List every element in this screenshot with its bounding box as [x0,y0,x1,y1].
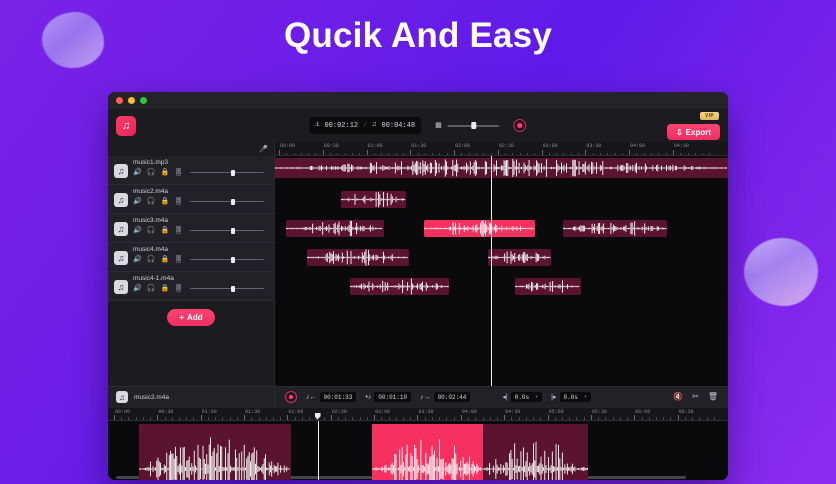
clip-ruler-tick-minor [432,417,433,420]
volume-slider-knob[interactable] [231,199,235,205]
clip-ruler-tick-minor [642,417,643,420]
ruler-tick-minor [359,153,360,156]
playhead[interactable] [491,156,492,386]
clip-ruler-tick-minor [280,417,281,420]
clip-ruler-tick-minor [714,417,715,420]
clip-ruler-tick-minor [396,417,397,420]
clip-editor-clip-selected[interactable] [372,424,484,481]
lock-icon[interactable]: 🔒 [160,198,169,205]
track-row[interactable]: ♫music2.m4a🔊🎧🔒🎚 [108,185,274,214]
clip-ruler-label: 03:00 [375,409,390,415]
clip-ruler-tick-minor [562,417,563,420]
clip-time-value[interactable]: 00:01:10 [374,392,411,402]
clip-ruler-tick-minor [692,417,693,420]
app-logo-icon: ♫ [116,116,136,136]
music-duration-icon: ♫ [372,122,376,129]
clip-ruler-tick-minor [352,417,353,420]
clip-ruler-tick-minor [468,417,469,420]
clip-ruler-tick-major [374,415,375,420]
clip-ruler-tick-minor [540,417,541,420]
track-list-panel: ♫music1.mp3🔊🎧🔒🎚♫music2.m4a🔊🎧🔒🎚♫music3.m4… [108,156,275,386]
minimize-window-button[interactable] [128,97,135,104]
track-row[interactable]: ♫music4.m4a🔊🎧🔒🎚 [108,243,274,272]
clip-ruler-tick-minor [490,417,491,420]
clip-inspector-toolbar: ♫ music3.m4a ♪←00:01:33•♪00:01:10♪→00:02… [108,386,728,408]
audio-clip[interactable] [488,249,551,266]
clip-start-icon: ♪← [306,394,317,401]
ruler-label: 01:00 [368,143,383,149]
clip-ruler-tick-minor [150,417,151,420]
clip-ruler-tick-minor [627,417,628,420]
clip-ruler-tick-minor [656,417,657,420]
clip-field-group: •♪00:01:10 [365,392,411,402]
clip-ruler-tick-minor [526,417,527,420]
plus-icon: + [179,313,184,322]
volume-slider-knob[interactable] [231,286,235,292]
effects-icon[interactable]: 🎚 [174,198,183,205]
fade-group: ◂|0.0s▾ [502,392,542,402]
ruler-tick-minor [549,153,550,156]
clip-ruler-tick-minor [685,417,686,420]
ruler-tick-minor [294,153,295,156]
clip-ruler-tick-minor [403,417,404,420]
ruler-tick-minor [512,153,513,156]
ruler-tick-minor [308,153,309,156]
clip-ruler-tick-minor [302,417,303,420]
ruler-tick-minor [651,153,652,156]
ruler-tick-minor [469,153,470,156]
audio-clip[interactable] [341,191,407,208]
clip-ruler-tick-major [157,415,158,420]
clip-ruler-tick-major [287,415,288,420]
clip-ruler-tick-minor [425,417,426,420]
clip-ruler-tick-minor [237,417,238,420]
effects-icon[interactable]: 🎚 [174,169,183,176]
chevron-down-icon: ▾ [584,394,587,400]
timeline-ruler-row: 🎤 00:3001:0001:3002:0002:3003:0003:3004:… [108,142,728,156]
ruler-tick-minor [680,153,681,156]
ruler-tick-minor [622,153,623,156]
clip-editor-ruler[interactable]: 00:0000:3001:0001:3002:0002:3003:0003:30… [108,408,728,421]
lock-icon[interactable]: 🔒 [160,256,169,263]
ruler-tick-minor [593,153,594,156]
ruler-tick-minor [330,153,331,156]
ruler-tick-major [629,150,630,155]
mute-icon[interactable]: 🔊 [133,198,142,205]
ruler-tick-minor [688,153,689,156]
total-time-value: 00:04:48 [382,122,416,130]
clip-time-value[interactable]: 00:01:33 [320,392,357,402]
ruler-tick-minor [381,153,382,156]
ruler-tick-minor [374,153,375,156]
selected-clip-name: music3.m4a [134,394,169,401]
split-icon[interactable]: ✂ [692,393,699,401]
clip-ruler-tick-minor [533,417,534,420]
clip-ruler-tick-major [461,415,462,420]
clip-ruler-label: 05:30 [592,409,607,415]
fade-value: 0.0s [515,394,529,401]
clip-thumb-icon: ♫ [116,391,128,403]
clip-ruler-tick-minor [295,417,296,420]
audio-clip[interactable] [563,220,667,237]
clip-ruler-tick-minor [215,417,216,420]
ruler-label: 02:00 [455,143,470,149]
effects-icon[interactable]: 🎚 [174,227,183,234]
clip-ruler-tick-minor [620,417,621,420]
clip-in-icon: •♪ [365,394,371,401]
timeline-ruler[interactable]: 00:3001:0001:3002:0002:3003:0003:3004:00… [275,142,728,156]
clip-ruler-tick-major [417,415,418,420]
solo-headphone-icon[interactable]: 🎧 [147,198,156,205]
mute-icon[interactable]: 🔊 [133,169,142,176]
volume-slider[interactable] [190,230,264,232]
clip-ruler-tick-minor [251,417,252,420]
ruler-tick-minor [337,153,338,156]
clip-ruler-tick-minor [143,417,144,420]
clip-ruler-tick-major [114,415,115,420]
clip-ruler-tick-minor [699,417,700,420]
clip-ruler-tick-minor [266,417,267,420]
clip-ruler-tick-minor [172,417,173,420]
ruler-tick-minor [563,153,564,156]
chevron-down-icon: ▾ [535,394,538,400]
ruler-label: 04:30 [674,143,689,149]
clip-ruler-tick-minor [222,417,223,420]
track-row[interactable]: ♫music1.mp3🔊🎧🔒🎚 [108,156,274,185]
ruler-tick-minor [505,153,506,156]
ruler-tick-major [585,150,586,155]
ruler-tick-minor [439,153,440,156]
solo-headphone-icon[interactable]: 🎧 [147,256,156,263]
ruler-tick-major [279,150,280,155]
ruler-tick-minor [447,153,448,156]
transport-group: ⚓ 00:02:12 / ♫ 00:04:48 ▦ [309,117,526,134]
ruler-tick-minor [396,153,397,156]
clip-ruler-tick-minor [598,417,599,420]
ruler-tick-minor [709,153,710,156]
ruler-tick-minor [286,153,287,156]
ruler-label: 01:30 [411,143,426,149]
ruler-tick-minor [702,153,703,156]
clip-ruler-tick-major [678,415,679,420]
track-name: music4.m4a [133,246,268,253]
clip-ruler-label: 04:00 [462,409,477,415]
clip-ruler-label: 03:30 [418,409,433,415]
current-time-value: 00:02:12 [324,122,358,130]
ruler-tick-minor [418,153,419,156]
ruler-tick-minor [578,153,579,156]
zoom-icon[interactable]: ▦ [435,122,442,129]
volume-slider[interactable] [190,172,264,174]
ruler-tick-minor [607,153,608,156]
track-name: music1.mp3 [133,159,268,166]
clip-ruler-tick-major [504,415,505,420]
ruler-tick-minor [315,153,316,156]
download-icon: ⇩ [676,128,683,137]
track-name: music3.m4a [133,217,268,224]
play-button[interactable] [285,391,297,403]
clip-time-fields: ♪←00:01:33•♪00:01:10♪→00:02:44◂|0.0s▾|▸0… [306,392,591,402]
clip-ruler-tick-major [331,415,332,420]
music-note-icon: ♫ [114,222,128,236]
selected-clip-info: ♫ music3.m4a [108,387,275,408]
timeline-canvas[interactable] [275,156,728,386]
audio-clip[interactable] [350,278,450,295]
zoom-group: ▦ [435,122,500,129]
clip-ruler-tick-minor [259,417,260,420]
ruler-tick-minor [571,153,572,156]
clip-ruler-tick-minor [338,417,339,420]
clip-ruler-tick-minor [367,417,368,420]
clip-ruler-tick-minor [511,417,512,420]
ruler-tick-minor [352,153,353,156]
clip-ruler-tick-minor [555,417,556,420]
volume-slider-knob[interactable] [231,228,235,234]
clip-ruler-tick-major [201,415,202,420]
clip-ruler-tick-minor [446,417,447,420]
clip-field-group: ♪→00:02:44 [420,392,470,402]
solo-headphone-icon[interactable]: 🎧 [147,285,156,292]
time-readout[interactable]: ⚓ 00:02:12 / ♫ 00:04:48 [309,117,421,134]
ruler-tick-minor [534,153,535,156]
fade-select[interactable]: 0.0s▾ [560,392,591,402]
track-row[interactable]: ♫music4-1.m4a🔊🎧🔒🎚 [108,272,274,301]
music-note-icon: ♫ [114,280,128,294]
ruler-tick-minor [658,153,659,156]
effects-icon[interactable]: 🎚 [174,285,183,292]
clip-ruler-tick-minor [208,417,209,420]
ruler-tick-minor [527,153,528,156]
ruler-tick-minor [695,153,696,156]
export-button[interactable]: ⇩ Export [667,124,720,140]
ruler-tick-minor [403,153,404,156]
ruler-tick-minor [432,153,433,156]
ruler-tick-minor [388,153,389,156]
solo-headphone-icon[interactable]: 🎧 [147,227,156,234]
clip-ruler-label: 04:30 [505,409,520,415]
music-note-icon: ♫ [114,193,128,207]
fade-group: |▸0.0s▾ [551,392,591,402]
export-label: Export [686,128,711,137]
audio-clip-selected[interactable] [424,220,535,237]
clip-ruler-tick-minor [483,417,484,420]
clip-ruler-tick-minor [670,417,671,420]
ruler-tick-major [410,150,411,155]
clip-ruler-tick-minor [475,417,476,420]
effects-icon[interactable]: 🎚 [174,256,183,263]
clip-actions: 🔇 ✂ 🗑 [673,393,718,401]
clip-ruler-tick-major [548,415,549,420]
clip-ruler-tick-minor [165,417,166,420]
clip-ruler-tick-minor [439,417,440,420]
lock-icon[interactable]: 🔒 [160,169,169,176]
ruler-tick-minor [644,153,645,156]
delete-icon[interactable]: 🗑 [708,393,718,401]
volume-slider-knob[interactable] [231,257,235,263]
fade-in-icon: ◂| [502,394,507,401]
music-note-icon: ♫ [114,164,128,178]
ruler-tick-major [454,150,455,155]
clip-ruler-tick-minor [584,417,585,420]
ruler-tick-minor [491,153,492,156]
clip-ruler-tick-major [591,415,592,420]
clip-ruler-tick-minor [136,417,137,420]
time-separator: / [363,122,367,130]
ruler-tick-major [673,150,674,155]
close-window-button[interactable] [116,97,123,104]
clip-ruler-tick-minor [193,417,194,420]
promo-canvas: Qucik And Easy ♫ ⚓ 00:02:12 / ♫ 00:04:48… [0,0,836,484]
clip-ruler-tick-minor [345,417,346,420]
ruler-label: 02:30 [499,143,514,149]
clip-editor-clip[interactable] [483,424,588,481]
clip-editor-canvas[interactable] [108,421,728,481]
audio-clip[interactable] [515,278,581,295]
audio-clip[interactable] [307,249,409,266]
fade-select[interactable]: 0.0s▾ [511,392,542,402]
ruler-tick-major [542,150,543,155]
clip-ruler-label: 01:00 [202,409,217,415]
ruler-tick-minor [636,153,637,156]
decorative-blob-right [744,238,818,306]
ruler-tick-minor [301,153,302,156]
clip-ruler-tick-minor [663,417,664,420]
clip-out-icon: ♪→ [420,394,431,401]
clip-ruler-tick-minor [381,417,382,420]
add-track-area: + Add [108,301,274,386]
ruler-tick-minor [425,153,426,156]
volume-slider-knob[interactable] [231,170,235,176]
lock-icon[interactable]: 🔒 [160,285,169,292]
clip-time-value[interactable]: 00:02:44 [434,392,471,402]
clip-ruler-label: 06:00 [635,409,650,415]
clip-ruler-label: 01:30 [245,409,260,415]
ruler-left-spacer: 🎤 [108,142,275,156]
volume-slider[interactable] [190,259,264,261]
track-row[interactable]: ♫music3.m4a🔊🎧🔒🎚 [108,214,274,243]
clip-ruler-tick-major [244,415,245,420]
maximize-window-button[interactable] [140,97,147,104]
ruler-tick-major [367,150,368,155]
clip-ruler-tick-major [634,415,635,420]
clip-ruler-tick-minor [569,417,570,420]
audio-clip[interactable] [275,158,728,178]
ruler-tick-minor [520,153,521,156]
clip-ruler-tick-minor [360,417,361,420]
clip-ruler-tick-minor [121,417,122,420]
ruler-tick-minor [461,153,462,156]
audio-clip[interactable] [286,220,383,237]
ruler-tick-minor [615,153,616,156]
ruler-label: 04:00 [630,143,645,149]
volume-slider[interactable] [190,201,264,203]
microphone-icon[interactable]: 🎤 [259,145,268,153]
clip-fields-group: ♪←00:01:33•♪00:01:10♪→00:02:44◂|0.0s▾|▸0… [275,391,591,403]
clip-ruler-tick-minor [519,417,520,420]
lock-icon[interactable]: 🔒 [160,227,169,234]
clip-ruler-tick-minor [613,417,614,420]
clip-editor-playhead[interactable] [318,421,319,481]
track-rows: ♫music1.mp3🔊🎧🔒🎚♫music2.m4a🔊🎧🔒🎚♫music3.m4… [108,156,274,301]
ruler-tick-minor [600,153,601,156]
clip-ruler-tick-minor [707,417,708,420]
ruler-tick-major [323,150,324,155]
track-name: music4-1.m4a [133,275,268,282]
app-window: ♫ ⚓ 00:02:12 / ♫ 00:04:48 ▦ VIP [108,92,728,480]
clip-editor-clip[interactable] [139,424,291,481]
clip-ruler-label: 00:30 [158,409,173,415]
ruler-label: 03:30 [586,143,601,149]
vip-badge[interactable]: VIP [700,112,719,120]
ruler-label: 03:00 [543,143,558,149]
marker-icon: ⚓ [315,122,319,129]
clip-ruler-tick-minor [179,417,180,420]
fade-value: 0.0s [564,394,578,401]
clip-ruler-tick-minor [230,417,231,420]
editor-middle: ♫music1.mp3🔊🎧🔒🎚♫music2.m4a🔊🎧🔒🎚♫music3.m4… [108,156,728,386]
music-note-icon: ♫ [114,251,128,265]
solo-headphone-icon[interactable]: 🎧 [147,169,156,176]
clip-ruler-tick-minor [454,417,455,420]
clip-ruler-tick-minor [186,417,187,420]
volume-slider[interactable] [190,288,264,290]
ruler-tick-major [498,150,499,155]
clip-ruler-tick-minor [576,417,577,420]
window-titlebar [108,92,728,109]
clip-ruler-tick-minor [309,417,310,420]
clip-ruler-label: 02:30 [332,409,347,415]
ruler-label: 00:30 [324,143,339,149]
clip-ruler-label: 00:00 [115,409,130,415]
promo-headline: Qucik And Easy [0,16,836,56]
clip-ruler-tick-minor [649,417,650,420]
clip-ruler-tick-minor [324,417,325,420]
ruler-tick-minor [345,153,346,156]
ruler-tick-minor [476,153,477,156]
ruler-tick-minor [483,153,484,156]
ruler-tick-minor [666,153,667,156]
clip-ruler-tick-minor [128,417,129,420]
add-track-button[interactable]: + Add [167,309,214,326]
clip-ruler-label: 02:00 [288,409,303,415]
mute-icon[interactable]: 🔊 [133,256,142,263]
clip-ruler-tick-minor [389,417,390,420]
mute-icon[interactable]: 🔊 [133,227,142,234]
clip-ruler-tick-minor [273,417,274,420]
ruler-label: 00:00 [280,143,295,149]
clip-ruler-tick-minor [605,417,606,420]
track-name: music2.m4a [133,188,268,195]
clip-field-group: ♪←00:01:33 [306,392,356,402]
mute-icon[interactable]: 🔊 [133,285,142,292]
top-toolbar: ♫ ⚓ 00:02:12 / ♫ 00:04:48 ▦ VIP [108,109,728,142]
clip-ruler-label: 05:00 [549,409,564,415]
ruler-tick-minor [556,153,557,156]
fade-out-icon: |▸ [551,394,556,401]
mute-icon[interactable]: 🔇 [673,393,683,401]
zoom-slider-knob[interactable] [472,122,477,129]
clip-ruler-tick-minor [497,417,498,420]
clip-ruler-tick-minor [410,417,411,420]
record-button[interactable] [514,119,527,132]
zoom-slider[interactable] [448,125,500,127]
clip-ruler-label: 06:30 [679,409,694,415]
add-track-label: Add [187,313,203,322]
